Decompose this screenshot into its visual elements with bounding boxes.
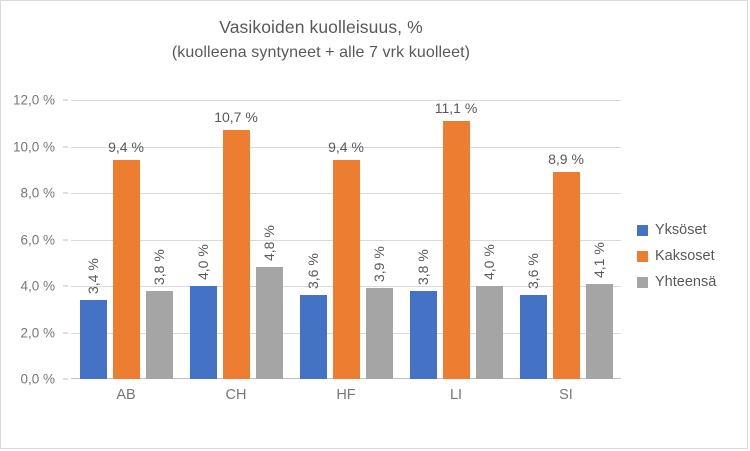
bar[interactable] <box>410 291 437 379</box>
chart-container: Vasikoiden kuolleisuus, % (kuolleena syn… <box>0 0 748 449</box>
legend-label: Yksöset <box>655 222 707 238</box>
bar-value-label: 3,4 % <box>86 258 100 294</box>
y-axis-tick-mark <box>63 146 68 147</box>
bar-value-label: 10,7 % <box>214 110 258 124</box>
bar-value-label: 9,4 % <box>328 140 364 154</box>
bar-value-label: 3,8 % <box>416 249 430 285</box>
bar[interactable] <box>300 295 327 379</box>
bar[interactable] <box>113 160 140 379</box>
y-axis-tick-mark <box>63 239 68 240</box>
y-axis-tick-label: 10,0 % <box>13 139 55 154</box>
bar-value-label: 4,0 % <box>196 244 210 280</box>
bar[interactable] <box>476 286 503 379</box>
bar[interactable] <box>366 288 393 379</box>
bar[interactable] <box>223 130 250 379</box>
legend-swatch-icon <box>637 251 648 262</box>
bar-value-label: 3,6 % <box>306 254 320 290</box>
bar[interactable] <box>146 291 173 379</box>
bar[interactable] <box>520 295 547 379</box>
legend-item[interactable]: Kaksoset <box>637 243 743 269</box>
y-axis-tick-mark <box>63 379 68 380</box>
y-axis-tick-label: 4,0 % <box>20 279 55 294</box>
bar-group: 3,6 %8,9 %4,1 % <box>520 100 613 379</box>
y-axis-tick-mark <box>63 286 68 287</box>
chart-title: Vasikoiden kuolleisuus, % (kuolleena syn… <box>61 15 581 65</box>
chart-subtitle: (kuolleena syntyneet + alle 7 vrk kuolle… <box>61 40 581 65</box>
x-axis-category-label: CH <box>181 387 291 403</box>
bar[interactable] <box>553 172 580 379</box>
y-axis-tick-label: 0,0 % <box>20 372 55 387</box>
legend-label: Yhteensä <box>655 274 716 290</box>
x-axis: ABCHHFLISI <box>71 387 621 415</box>
plot-area: 3,4 %9,4 %3,8 %4,0 %10,7 %4,8 %3,6 %9,4 … <box>71 100 621 379</box>
x-axis-category-label: LI <box>401 387 511 403</box>
y-axis-tick-mark <box>63 332 68 333</box>
bar[interactable] <box>190 286 217 379</box>
bar-value-label: 4,1 % <box>592 242 606 278</box>
x-axis-category-label: SI <box>511 387 621 403</box>
bar[interactable] <box>586 284 613 379</box>
y-axis-tick-label: 6,0 % <box>20 232 55 247</box>
bar-value-label: 3,8 % <box>152 249 166 285</box>
bar-group: 4,0 %10,7 %4,8 % <box>190 100 283 379</box>
legend-item[interactable]: Yhteensä <box>637 269 743 295</box>
chart-title-main: Vasikoiden kuolleisuus, % <box>219 17 423 37</box>
bar-value-label: 9,4 % <box>108 140 144 154</box>
legend-label: Kaksoset <box>655 248 715 264</box>
bar-value-label: 3,6 % <box>526 254 540 290</box>
bar[interactable] <box>256 267 283 379</box>
x-axis-category-label: HF <box>291 387 401 403</box>
bar-group: 3,6 %9,4 %3,9 % <box>300 100 393 379</box>
bar[interactable] <box>80 300 107 379</box>
legend-swatch-icon <box>637 225 648 236</box>
y-axis-tick-label: 8,0 % <box>20 186 55 201</box>
x-axis-category-label: AB <box>71 387 181 403</box>
y-axis: 12,0 %10,0 %8,0 %6,0 %4,0 %2,0 %0,0 % <box>1 100 63 379</box>
bar-value-label: 8,9 % <box>548 152 584 166</box>
y-axis-tick-mark <box>63 193 68 194</box>
bar[interactable] <box>333 160 360 379</box>
bar-value-label: 11,1 % <box>435 101 478 115</box>
bar-group: 3,8 %11,1 %4,0 % <box>410 100 503 379</box>
bar-value-label: 4,0 % <box>482 244 496 280</box>
bar-value-label: 4,8 % <box>262 226 276 262</box>
legend-item[interactable]: Yksöset <box>637 217 743 243</box>
chart-legend: YksösetKaksosetYhteensä <box>637 217 743 295</box>
bar-group: 3,4 %9,4 %3,8 % <box>80 100 173 379</box>
bar-value-label: 3,9 % <box>372 247 386 283</box>
legend-swatch-icon <box>637 277 648 288</box>
y-axis-tick-mark <box>63 100 68 101</box>
y-axis-tick-label: 2,0 % <box>20 325 55 340</box>
y-axis-tick-label: 12,0 % <box>13 93 55 108</box>
bar[interactable] <box>443 121 470 379</box>
